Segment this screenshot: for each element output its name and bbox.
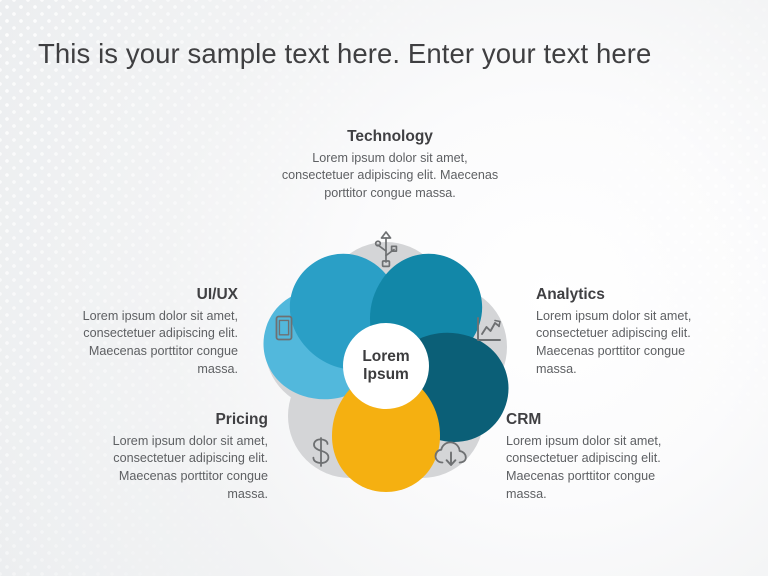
callout-technology-title: Technology (281, 128, 499, 147)
callout-uiux-body: Lorem ipsum dolor sit amet, consectetuer… (68, 308, 238, 380)
petal-flower-diagram: Lorem Ipsum (236, 216, 536, 516)
callout-technology: Technology Lorem ipsum dolor sit amet, c… (281, 128, 499, 203)
center-circle[interactable] (343, 323, 429, 409)
callout-analytics-body: Lorem ipsum dolor sit amet, consectetuer… (536, 308, 714, 380)
page-title: This is your sample text here. Enter you… (38, 38, 738, 70)
callout-uiux-title: UI/UX (68, 286, 238, 305)
callout-analytics: Analytics Lorem ipsum dolor sit amet, co… (536, 286, 714, 379)
callout-uiux: UI/UX Lorem ipsum dolor sit amet, consec… (68, 286, 238, 379)
slide-canvas: This is your sample text here. Enter you… (0, 0, 768, 576)
callout-analytics-title: Analytics (536, 286, 714, 305)
callout-technology-body: Lorem ipsum dolor sit amet, consectetuer… (281, 150, 499, 204)
